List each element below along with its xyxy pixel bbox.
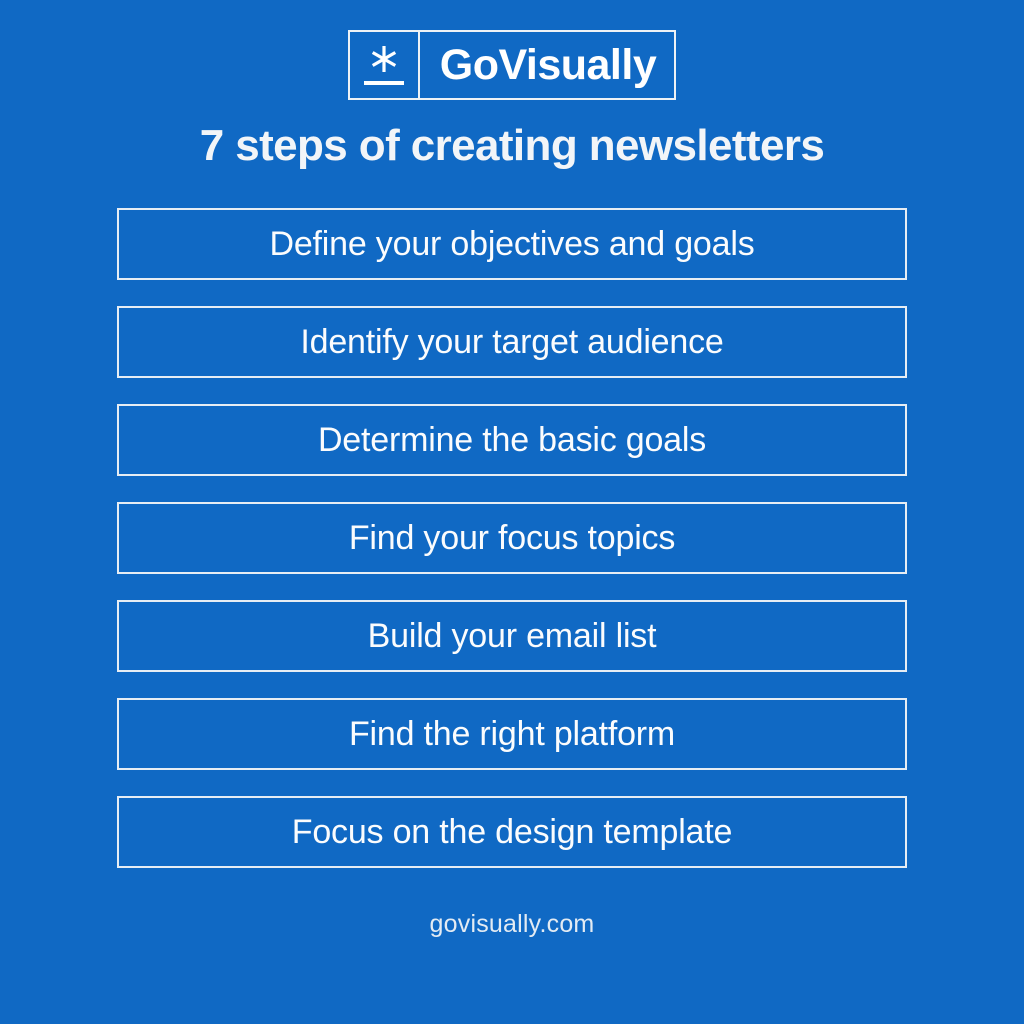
- step-item-inner: Build your email list: [121, 604, 903, 668]
- step-item-label: Determine the basic goals: [318, 423, 706, 457]
- step-item: Focus on the design template: [117, 796, 907, 868]
- step-item-label: Find the right platform: [349, 717, 675, 751]
- step-item-label: Find your focus topics: [349, 521, 675, 555]
- page-title: 7 steps of creating newsletters: [200, 122, 825, 170]
- step-item: Find your focus topics: [117, 502, 907, 574]
- step-item-inner: Determine the basic goals: [121, 408, 903, 472]
- step-item: Build your email list: [117, 600, 907, 672]
- step-item-label: Identify your target audience: [300, 325, 723, 359]
- step-item: Determine the basic goals: [117, 404, 907, 476]
- step-item-label: Build your email list: [368, 619, 657, 653]
- step-item: Find the right platform: [117, 698, 907, 770]
- brand-logo: GoVisually: [348, 30, 676, 100]
- underline-rule-icon: [364, 81, 404, 85]
- logo-mark: [350, 32, 420, 98]
- step-item-inner: Find your focus topics: [121, 506, 903, 570]
- step-item-label: Focus on the design template: [292, 815, 732, 849]
- logo-wordmark: GoVisually: [420, 32, 674, 98]
- step-item: Define your objectives and goals: [117, 208, 907, 280]
- infographic-poster: GoVisually 7 steps of creating newslette…: [0, 0, 1024, 1024]
- step-item-inner: Find the right platform: [121, 702, 903, 766]
- step-item-inner: Define your objectives and goals: [121, 212, 903, 276]
- step-item: Identify your target audience: [117, 306, 907, 378]
- step-item-inner: Focus on the design template: [121, 800, 903, 864]
- step-item-label: Define your objectives and goals: [269, 227, 754, 261]
- step-item-inner: Identify your target audience: [121, 310, 903, 374]
- footer-website: govisually.com: [430, 910, 595, 939]
- asterisk-icon: [369, 44, 399, 74]
- steps-list: Define your objectives and goals Identif…: [117, 208, 907, 868]
